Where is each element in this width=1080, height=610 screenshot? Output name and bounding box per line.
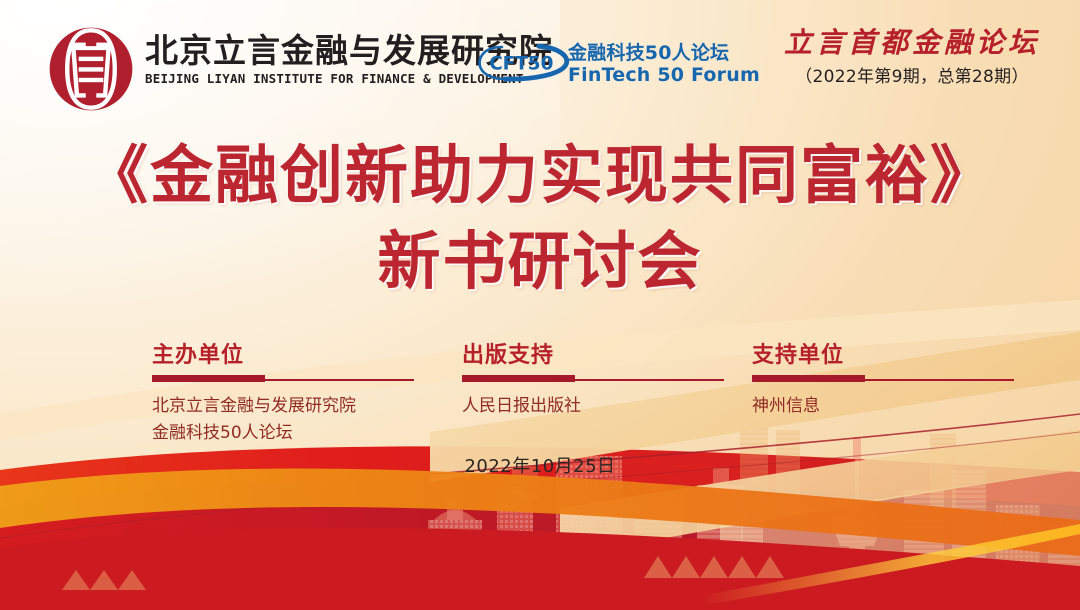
credit-rule [752,375,1014,384]
svg-text:CFT50: CFT50 [489,53,553,74]
event-date: 2022年10月25日 [0,452,1080,478]
credit-entries: 神州信息 [752,393,1014,420]
rule-thick-segment [752,375,865,382]
rule-thick-segment [462,375,575,382]
rule-thick-segment [152,375,265,382]
poster-header: 北京立言金融与发展研究院 BEIJING LIYAN INSTITUTE FOR… [0,0,1080,118]
main-title-line-1: 《金融创新助力实现共同富裕》 [0,135,1080,217]
cft50-name-block: 金融科技50人论坛 FinTech 50 Forum [568,42,760,87]
credit-rule [462,375,724,384]
credit-column-supporter: 支持单位 神州信息 [752,343,1014,420]
forum-title: 立言首都金融论坛 [772,26,1052,60]
cft50-logo-icon: CFT50 [478,42,574,84]
cft50-name-en: FinTech 50 Forum [568,64,760,87]
main-title-line-2: 新书研讨会 [0,221,1080,303]
forum-issue: （2022年第9期，总第28期） [772,65,1052,89]
credit-rule [152,375,414,384]
credit-heading: 支持单位 [752,343,1014,369]
credit-entries: 人民日报出版社 [462,393,724,420]
forum-brand-block: 立言首都金融论坛 （2022年第9期，总第28期） [772,26,1052,89]
credit-column-organizer: 主办单位 北京立言金融与发展研究院 金融科技50人论坛 [152,343,414,447]
credit-heading: 主办单位 [152,343,414,369]
rule-thin-segment [575,379,724,381]
liyan-seal-icon [47,25,135,113]
rule-thin-segment [865,379,1014,381]
cft50-name-cn: 金融科技50人论坛 [568,42,760,64]
credit-entries: 北京立言金融与发展研究院 金融科技50人论坛 [152,393,414,447]
credit-heading: 出版支持 [462,343,724,369]
main-title: 《金融创新助力实现共同富裕》 新书研讨会 [0,135,1080,303]
rule-thin-segment [265,379,414,381]
credit-column-publisher: 出版支持 人民日报出版社 [462,343,724,420]
poster-canvas: 北京立言金融与发展研究院 BEIJING LIYAN INSTITUTE FOR… [0,0,1080,610]
credit-columns: 主办单位 北京立言金融与发展研究院 金融科技50人论坛 出版支持 人民日报出版社… [0,343,1080,433]
